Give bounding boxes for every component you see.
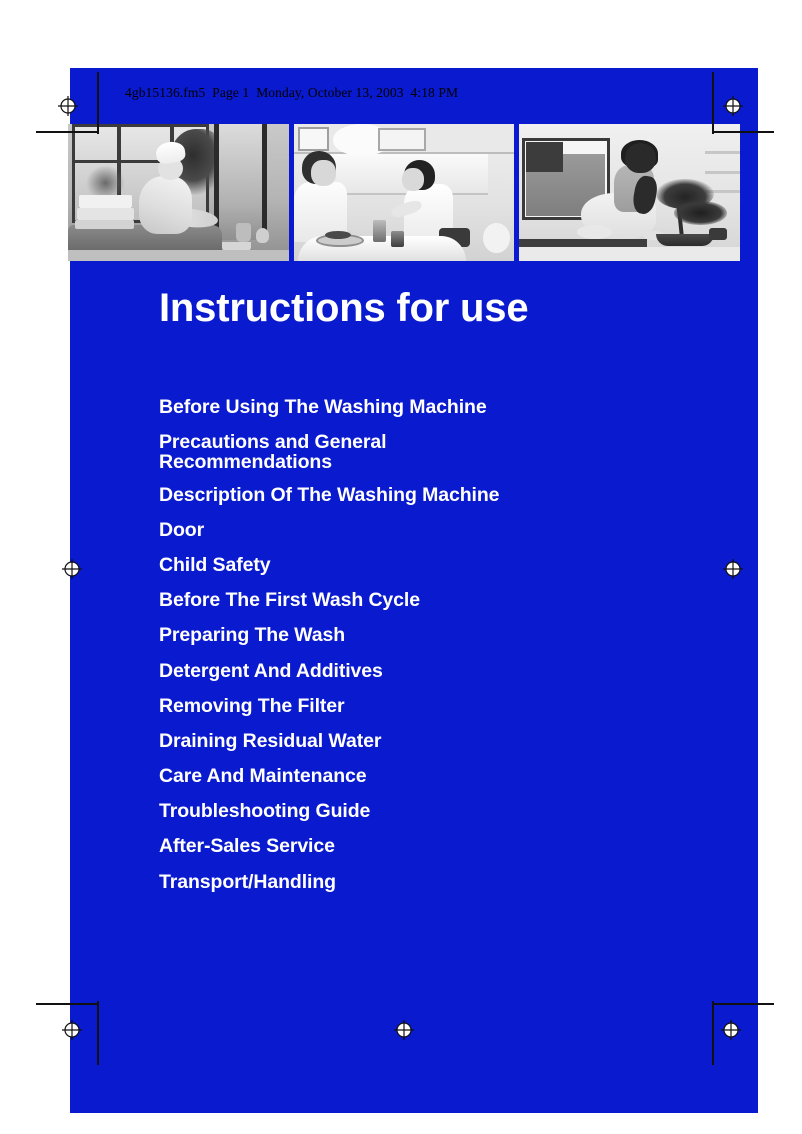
crop-mark-line [712, 1001, 714, 1065]
photo2-window [298, 127, 329, 152]
photo-man-and-boy [294, 124, 515, 261]
crop-mark-line [712, 131, 774, 133]
photo1-floor [68, 250, 289, 261]
print-header-text: 4gb15136.fm5 Page 1 Monday, October 13, … [125, 85, 458, 101]
photo3-mat [519, 239, 647, 247]
photo3-shelf [705, 151, 740, 154]
photo1-folded-linen [75, 220, 135, 230]
photo1-woman-body [139, 176, 192, 234]
toc-item[interactable]: Troubleshooting Guide [159, 802, 679, 822]
toc-item[interactable]: Draining Residual Water [159, 732, 679, 752]
photo3-woman-foot [577, 225, 612, 239]
page-title: Instructions for use [159, 286, 528, 331]
crop-mark-line [97, 1001, 99, 1065]
toc-item[interactable]: Detergent And Additives [159, 662, 679, 682]
crop-mark-line [97, 72, 99, 134]
photo-woman-bonsai [519, 124, 740, 261]
photo2-window [378, 128, 427, 151]
crop-mark-line [712, 1003, 774, 1005]
photo2-ball [483, 223, 509, 253]
photo3-bonsai-pot [656, 234, 713, 246]
photo3-woman-head [625, 143, 656, 173]
photo2-glass [391, 231, 404, 247]
photo1-folded-linen [79, 195, 132, 207]
toc-item[interactable]: After-Sales Service [159, 837, 679, 857]
toc-item[interactable]: Before The First Wash Cycle [159, 591, 679, 611]
photo2-boy-face [402, 168, 424, 191]
photo3-small-pot [709, 228, 727, 240]
toc-item[interactable]: Removing The Filter [159, 697, 679, 717]
table-of-contents: Before Using The Washing Machine Precaut… [159, 398, 679, 908]
toc-item[interactable]: Care And Maintenance [159, 767, 679, 787]
toc-item[interactable]: Door [159, 521, 679, 541]
photo1-folded-linen [77, 208, 134, 220]
crop-mark-line [712, 72, 714, 134]
photo-strip [68, 124, 740, 261]
photo2-food [325, 231, 351, 239]
print-header-bar: 4gb15136.fm5 Page 1 Monday, October 13, … [70, 68, 758, 123]
photo-woman-towel [68, 124, 289, 261]
crop-mark-line [36, 1003, 98, 1005]
photo3-shelf [705, 171, 740, 174]
toc-item[interactable]: Before Using The Washing Machine [159, 398, 679, 418]
toc-item[interactable]: Transport/Handling [159, 873, 679, 893]
photo2-man-face [311, 160, 335, 186]
photo3-floor [519, 247, 740, 261]
toc-item[interactable]: Child Safety [159, 556, 679, 576]
toc-item[interactable]: Precautions and General Recommendations [159, 433, 679, 472]
photo1-door-frame [262, 124, 267, 240]
toc-item[interactable]: Preparing The Wash [159, 626, 679, 646]
photo1-jar [256, 228, 269, 243]
photo2-glass [373, 220, 386, 242]
photo3-bonsai-foliage [674, 201, 727, 226]
toc-item[interactable]: Description Of The Washing Machine [159, 486, 679, 506]
document-page: 4gb15136.fm5 Page 1 Monday, October 13, … [0, 0, 802, 1134]
crop-mark-line [36, 131, 98, 133]
photo1-jar [236, 223, 251, 242]
photo3-screen-dark-panel [526, 142, 564, 172]
